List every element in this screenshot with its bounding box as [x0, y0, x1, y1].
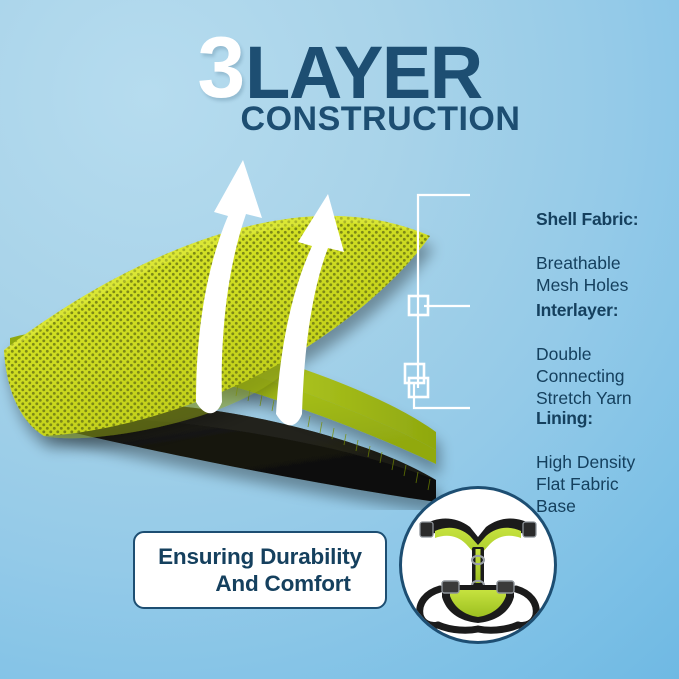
callout-markers	[405, 296, 428, 397]
callout-lining-title: Lining:	[536, 407, 635, 429]
dog-harness-illustration	[402, 489, 554, 641]
page-title: 3 LAYER CONSTRUCTION	[0, 34, 679, 136]
callout-lining-body: High Density Flat Fabric Base	[536, 451, 635, 517]
title-main-word: LAYER	[245, 36, 482, 110]
callout-shell-fabric-title: Shell Fabric:	[536, 208, 638, 230]
harness-buckle-right	[497, 581, 514, 593]
harness-right-belly-strap	[516, 589, 536, 626]
harness-adjuster-right	[523, 522, 536, 537]
callout-interlayer-title: Interlayer:	[536, 299, 632, 321]
layer-stack-illustration	[0, 150, 470, 510]
callout-lining: Lining: High Density Flat Fabric Base	[536, 385, 635, 539]
title-number: 3	[197, 32, 242, 106]
harness-bottom-strap	[438, 625, 518, 630]
product-badge	[399, 486, 557, 644]
title-primary-row: 3 LAYER	[0, 34, 679, 108]
infographic-poster: 3 LAYER CONSTRUCTION	[0, 0, 679, 679]
tagline-text: Ensuring Durability And Comfort	[133, 531, 387, 609]
tagline-line-2: And Comfort	[169, 570, 350, 597]
harness-buckle-left	[442, 581, 459, 593]
callout-connectors	[414, 195, 470, 408]
harness-chest-pad	[476, 549, 481, 583]
harness-adjuster-left	[420, 522, 433, 537]
tagline-line-1: Ensuring Durability	[158, 543, 362, 570]
harness-left-belly-strap	[420, 589, 440, 626]
